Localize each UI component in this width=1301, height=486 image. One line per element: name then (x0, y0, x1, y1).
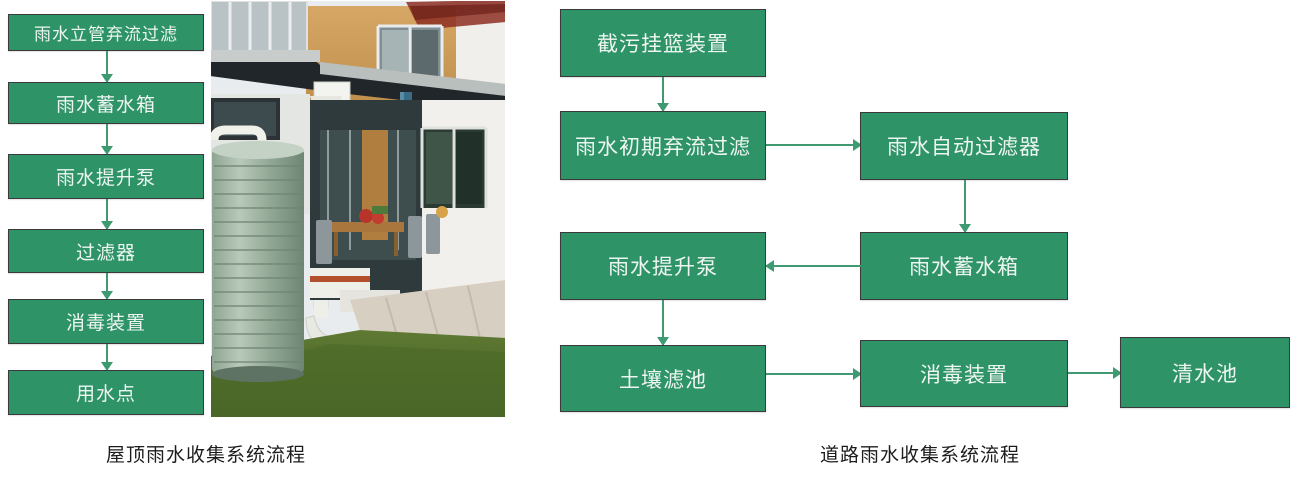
arrow-n4-to-n5 (100, 273, 114, 299)
arrow-r5-to-r6 (655, 300, 671, 345)
flow-node-disinfection-unit[interactable]: 消毒装置 (860, 340, 1068, 407)
arrow-n5-to-n6 (100, 344, 114, 370)
arrow-r7-to-r8 (1068, 366, 1121, 380)
arrow-r1-to-r2 (655, 77, 671, 111)
flow-node-rainwater-storage-tank[interactable]: 雨水蓄水箱 (8, 82, 204, 124)
rainwater-tank-house-photo (210, 0, 506, 418)
flow-node-soil-filter-basin[interactable]: 土壤滤池 (560, 345, 766, 412)
arrow-r3-to-r4 (957, 180, 973, 232)
figure-canvas: 雨水立管弃流过滤 雨水蓄水箱 雨水提升泵 过滤器 消毒装置 用水点 (0, 0, 1301, 486)
flow-node-filter[interactable]: 过滤器 (8, 229, 204, 273)
flow-node-clean-water-pool[interactable]: 清水池 (1120, 337, 1290, 408)
flow-node-rainwater-downpipe-filter[interactable]: 雨水立管弃流过滤 (8, 14, 204, 51)
flow-node-debris-basket-device[interactable]: 截污挂篮装置 (560, 9, 766, 77)
arrow-r4-to-r5 (766, 259, 861, 273)
left-diagram-caption: 屋顶雨水收集系统流程 (28, 440, 384, 467)
flow-node-rain-storage-tank[interactable]: 雨水蓄水箱 (860, 232, 1068, 300)
flow-node-disinfection-device[interactable]: 消毒装置 (8, 299, 204, 344)
arrow-r2-to-r3 (766, 138, 861, 152)
flow-node-rainwater-booster-pump[interactable]: 雨水提升泵 (8, 154, 204, 199)
arrow-n3-to-n4 (100, 199, 114, 229)
flow-node-automatic-rain-filter[interactable]: 雨水自动过滤器 (860, 112, 1068, 180)
flow-node-rain-booster-pump[interactable]: 雨水提升泵 (560, 232, 766, 300)
arrow-n1-to-n2 (100, 51, 114, 82)
arrow-r6-to-r7 (766, 367, 861, 381)
right-diagram-caption: 道路雨水收集系统流程 (740, 440, 1100, 467)
photo-illustration (210, 0, 506, 418)
arrow-n2-to-n3 (100, 124, 114, 154)
flow-node-water-use-point[interactable]: 用水点 (8, 370, 204, 415)
flow-node-initial-rain-discard-filter[interactable]: 雨水初期弃流过滤 (560, 111, 766, 180)
